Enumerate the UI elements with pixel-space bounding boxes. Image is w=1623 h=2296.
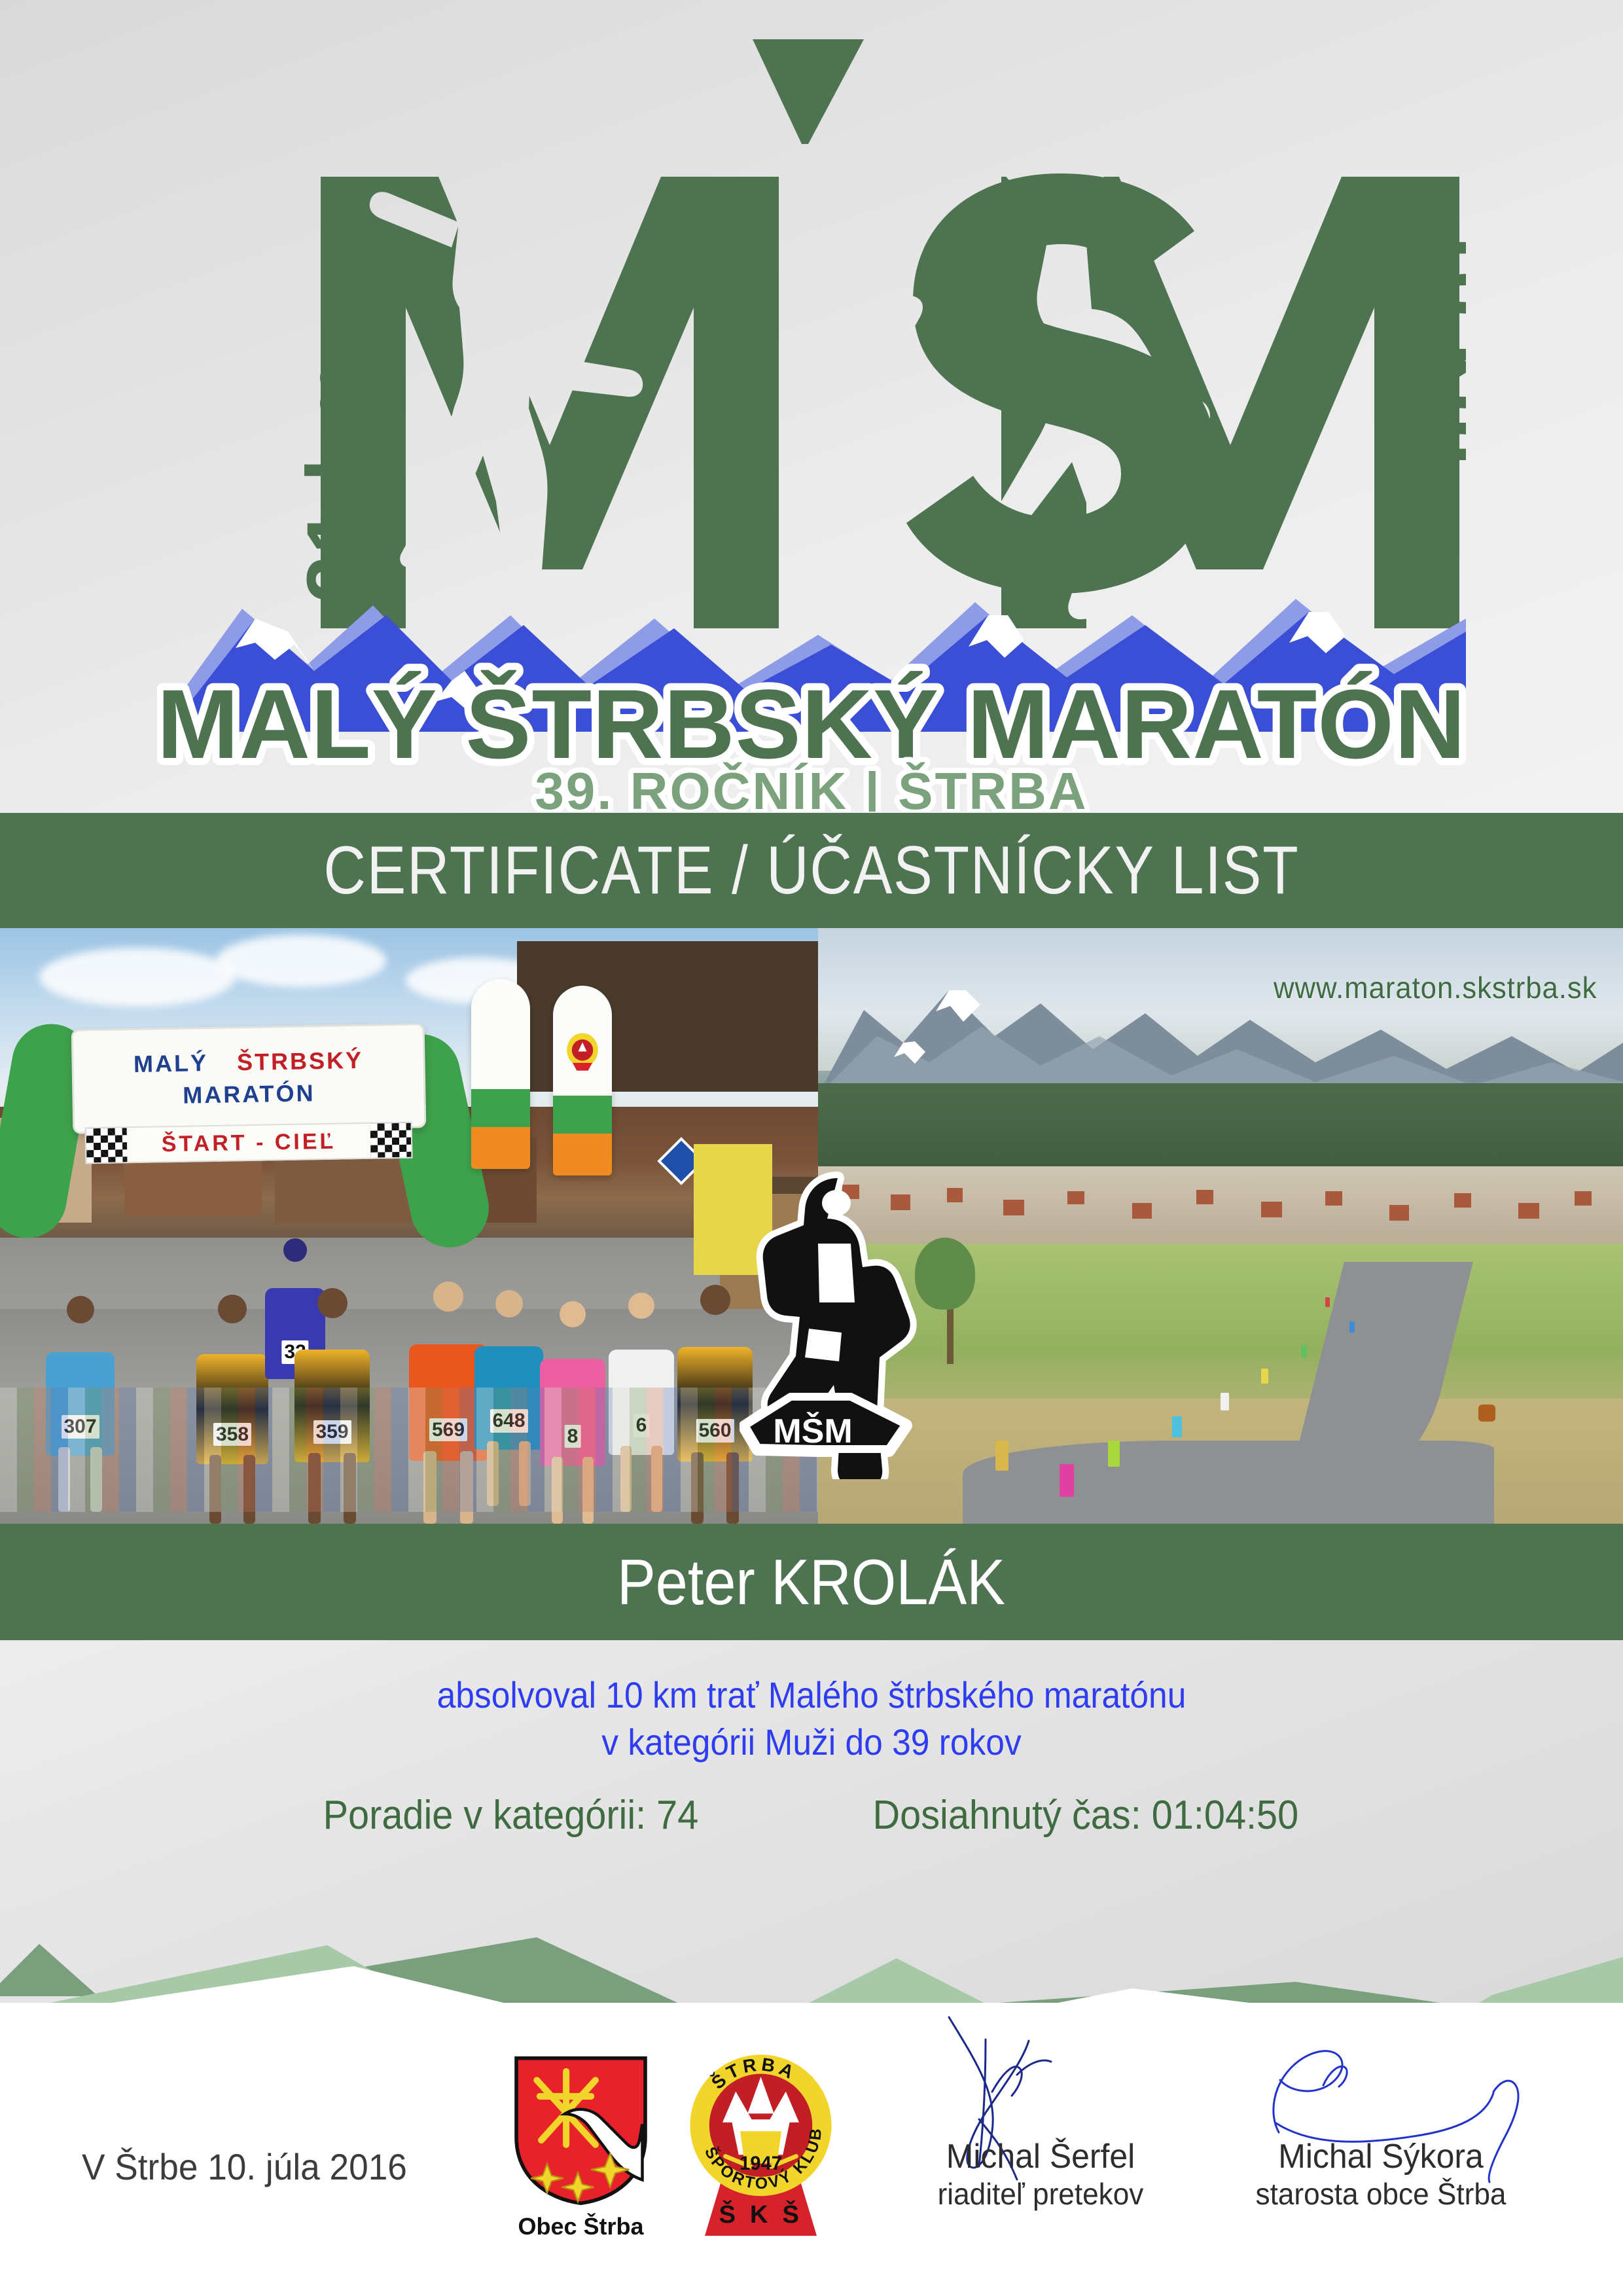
logo-distance-right: 10 km <box>1420 223 1466 467</box>
spectator-figure <box>995 1441 1008 1471</box>
logo-artwork: 31 km 10 km MALÝ ŠTRBSKÝ MARATÓN MALÝ ŠT… <box>157 26 1466 812</box>
place-and-date: V Štrbe 10. júla 2016 <box>82 2145 407 2188</box>
logo-distance-left: 31 km <box>290 358 383 602</box>
village-band <box>818 1166 1623 1249</box>
signature-block-director: Michal Šerfel riaditeľ pretekov <box>857 2015 1224 2211</box>
cloud-shape <box>39 948 236 1007</box>
svg-text:39. ROČNÍK | ŠTRBA: 39. ROČNÍK | ŠTRBA <box>535 762 1088 812</box>
checker-flag-left <box>86 1128 128 1162</box>
sks-club-emblem: 1947 ŠTRBA ŠPORTOVÝ KLUB Š K Š <box>687 2043 834 2240</box>
detail-line-distance: absolvoval 10 km trať Malého štrbského m… <box>65 1640 1558 1719</box>
result-row: Poradie v kategórii: 74 Dosiahnutý čas: … <box>0 1792 1623 1839</box>
logo-letter-m-right <box>1001 177 1459 628</box>
arch-line-1: MALÝ ŠTRBSKÝ <box>134 1045 364 1081</box>
category-rank: Poradie v kategórii: 74 <box>323 1792 698 1839</box>
club-abbrev: Š K Š <box>719 2199 802 2229</box>
caron-accent <box>753 39 864 144</box>
cloud-shape <box>216 935 386 987</box>
finish-time: Dosiahnutý čas: 01:04:50 <box>872 1792 1298 1839</box>
distant-runner <box>1301 1345 1307 1357</box>
distant-runner <box>1325 1297 1330 1307</box>
website-url: www.maraton.skstrba.sk <box>1274 970 1597 1005</box>
logo-letter-m-left <box>321 177 779 628</box>
signatory-role: starosta obce Štrba <box>1205 2178 1557 2212</box>
club-year: 1947 <box>740 2153 782 2174</box>
teardrop-flag-sks <box>553 986 612 1175</box>
athlete-name: Peter KROLÁK <box>617 1550 1005 1614</box>
event-logo: 31 km 10 km MALÝ ŠTRBSKÝ MARATÓN MALÝ ŠT… <box>0 0 1623 813</box>
cow-figure <box>1478 1405 1495 1422</box>
signatory-role: riaditeľ pretekov <box>865 2178 1217 2212</box>
distant-runner <box>1221 1393 1229 1410</box>
arch-line-2: MARATÓN <box>183 1077 315 1111</box>
distant-runner <box>1349 1321 1355 1333</box>
start-finish-text: ŠTART - CIEĽ <box>161 1128 336 1157</box>
distant-runner <box>1261 1369 1268 1384</box>
crowd-fill <box>0 1388 818 1512</box>
teardrop-flag-tatry <box>471 979 530 1169</box>
athlete-name-band: Peter KROLÁK <box>0 1524 1623 1640</box>
result-details: absolvoval 10 km trať Malého štrbského m… <box>0 1640 1623 1922</box>
obec-strba-coat-of-arms: Obec Štrba <box>504 2054 658 2250</box>
detail-line-category: v kategórii Muži do 39 rokov <box>65 1719 1558 1766</box>
start-finish-banner: ŠTART - CIEĽ <box>85 1122 413 1164</box>
forest-band <box>818 1083 1623 1179</box>
start-line-photo: MALÝ ŠTRBSKÝ MARATÓN ŠTART - CIEĽ <box>0 928 818 1524</box>
certificate-page: 31 km 10 km MALÝ ŠTRBSKÝ MARATÓN MALÝ ŠT… <box>0 0 1623 2296</box>
obec-strba-label: Obec Štrba <box>504 2213 658 2240</box>
tatra-landscape-photo: www.maraton.skstrba.sk <box>818 928 1623 1524</box>
distant-runner <box>1060 1464 1074 1497</box>
signatory-name: Michal Šerfel <box>865 2139 1217 2175</box>
signatory-name: Michal Sýkora <box>1205 2139 1557 2175</box>
footer: V Štrbe 10. júla 2016 Obec Štrba <box>0 2003 1623 2296</box>
logo-edition-line: 39. ROČNÍK | ŠTRBA 39. ROČNÍK | ŠTRBA <box>535 762 1088 812</box>
arch-word-maly: MALÝ <box>134 1049 209 1077</box>
arch-word-strbsky: ŠTRBSKÝ <box>237 1047 364 1075</box>
photo-strip: MALÝ ŠTRBSKÝ MARATÓN ŠTART - CIEĽ <box>0 928 1623 1524</box>
certificate-title: CERTIFICATE / ÚČASTNÍCKY LIST <box>323 836 1299 905</box>
race-road <box>963 1441 1494 1524</box>
distant-runner <box>1108 1441 1120 1467</box>
yellow-poster <box>694 1144 772 1275</box>
distant-runner <box>1172 1416 1182 1437</box>
tree-canopy <box>915 1238 975 1310</box>
checker-flag-right <box>370 1123 412 1158</box>
certificate-title-band: CERTIFICATE / ÚČASTNÍCKY LIST <box>0 813 1623 928</box>
arch-banner-top: MALÝ ŠTRBSKÝ MARATÓN <box>71 1023 427 1134</box>
signature-block-mayor: Michal Sýkora starosta obce Štrba <box>1198 2015 1564 2211</box>
